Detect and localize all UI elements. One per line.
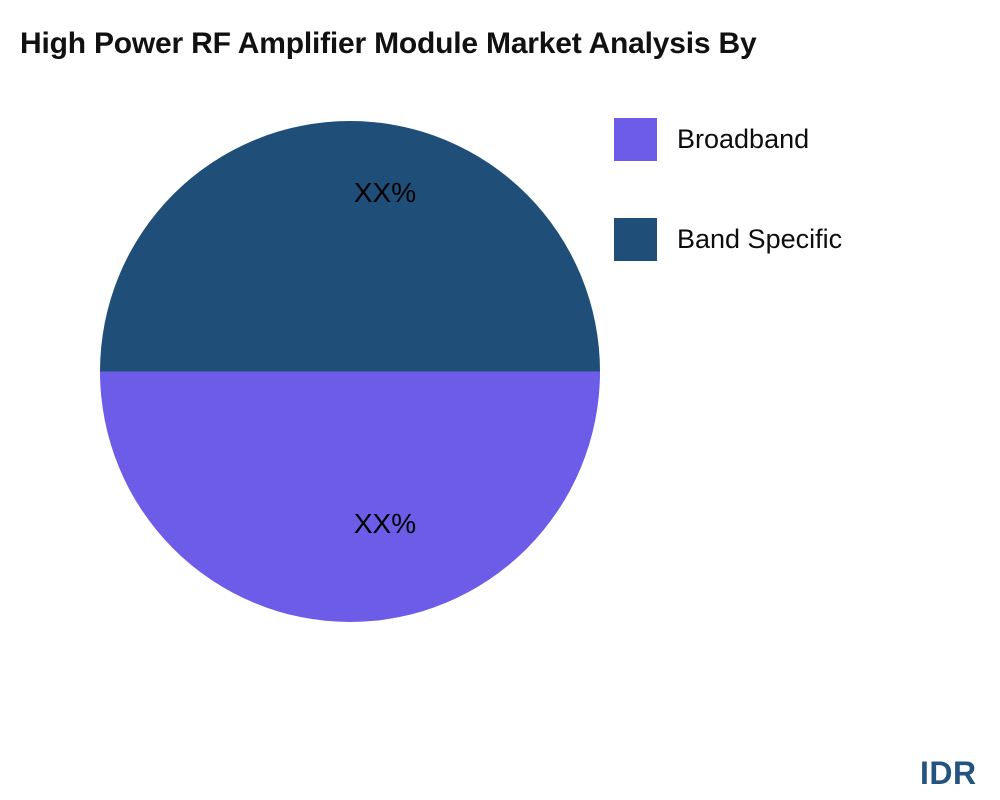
brand-logo: IDR: [920, 755, 977, 792]
pie-slice-broadband[interactable]: [100, 372, 600, 623]
legend-swatch-broadband: [614, 118, 657, 161]
pie-slice-label-band-specific: XX%: [354, 177, 416, 209]
pie-chart-svg: [100, 121, 600, 622]
legend-label-band-specific: Band Specific: [677, 218, 842, 261]
legend-swatch-band-specific: [614, 218, 657, 261]
pie-slice-band-specific[interactable]: [100, 121, 600, 372]
legend-item-broadband[interactable]: Broadband: [614, 118, 809, 161]
pie-chart: XX% XX%: [100, 121, 600, 622]
chart-canvas: High Power RF Amplifier Module Market An…: [0, 0, 1000, 800]
legend-label-broadband: Broadband: [677, 118, 809, 161]
legend-item-band-specific[interactable]: Band Specific: [614, 218, 842, 261]
pie-slice-label-broadband: XX%: [354, 508, 416, 540]
page-title: High Power RF Amplifier Module Market An…: [20, 24, 1000, 64]
